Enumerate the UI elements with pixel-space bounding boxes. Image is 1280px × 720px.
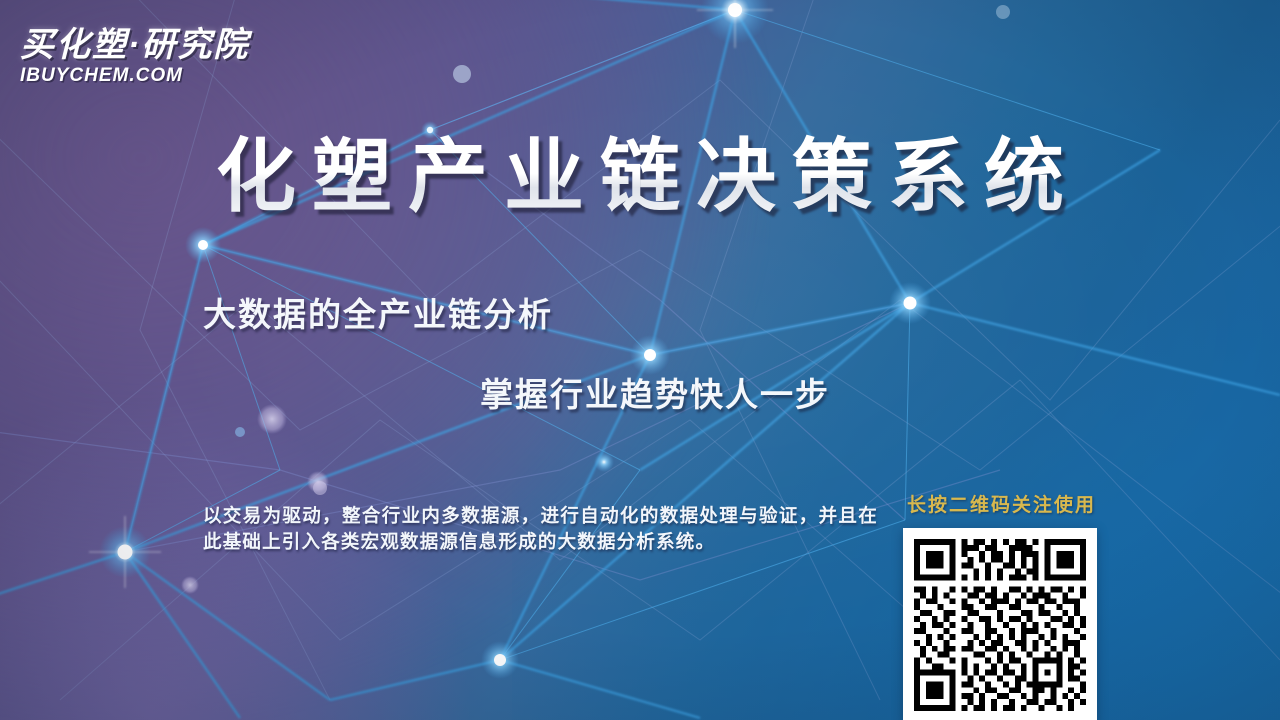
logo-domain: IBUYCHEM.COM [20, 65, 320, 87]
page-title: 化塑产业链决策系统 [0, 133, 1280, 221]
subtitle-secondary: 掌握行业趋势快人一步 [480, 368, 830, 416]
logo-chinese-name: 买化塑·研究院 [20, 28, 320, 64]
qr-caption: 长按二维码关注使用 [907, 490, 1123, 517]
subtitle-primary: 大数据的全产业链分析 [203, 288, 553, 336]
promo-poster: 买化塑·研究院 IBUYCHEM.COM 化塑产业链决策系统 大数据的全产业链分… [0, 0, 1280, 720]
qr-code[interactable] [903, 528, 1097, 720]
brand-logo: 买化塑·研究院 IBUYCHEM.COM [20, 28, 320, 87]
qr-section: 长按二维码关注使用 [903, 490, 1123, 720]
description-paragraph: 以交易为驱动，整合行业内多数据源，进行自动化的数据处理与验证，并且在此基础上引入… [203, 503, 878, 555]
